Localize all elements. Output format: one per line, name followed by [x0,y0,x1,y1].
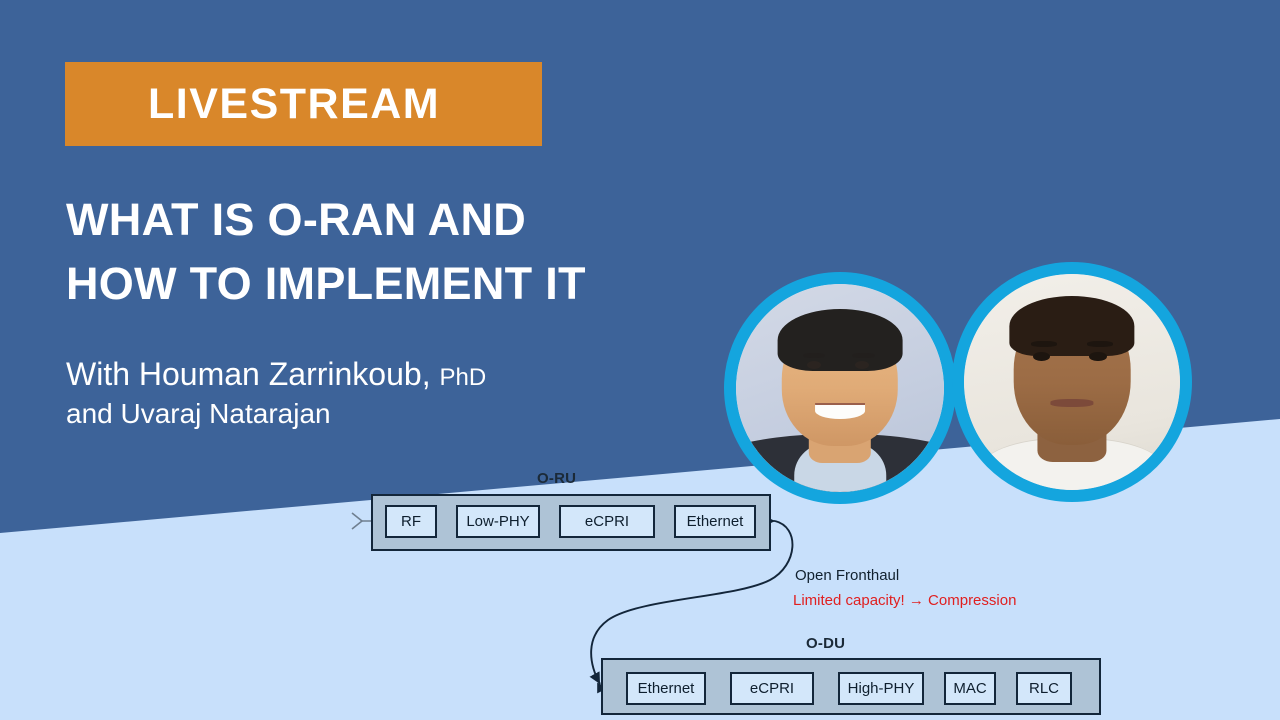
oran-block-diagram: O-RU RF Low-PHY eCPRI Ethernet Open Fron… [0,0,1280,720]
annotation-open-fronthaul: Open Fronthaul [795,567,899,584]
node-o-ru-ecpri: eCPRI [559,505,655,538]
annotation-limited-capacity: Limited capacity! → Compression [793,592,1016,609]
node-o-du-ecpri: eCPRI [730,672,814,705]
node-o-du-ethernet: Ethernet [626,672,706,705]
node-o-du-rlc: RLC [1016,672,1072,705]
node-o-ru-ethernet: Ethernet [674,505,756,538]
diagram-connectors [0,0,1280,720]
node-o-ru-low-phy: Low-PHY [456,505,540,538]
node-o-du-high-phy: High-PHY [838,672,924,705]
group-title-o-du: O-DU [806,635,845,652]
slide-canvas: LIVESTREAM WHAT IS O-RAN AND HOW TO IMPL… [0,0,1280,720]
node-o-du-mac: MAC [944,672,996,705]
group-title-o-ru: O-RU [537,470,576,487]
node-o-ru-rf: RF [385,505,437,538]
